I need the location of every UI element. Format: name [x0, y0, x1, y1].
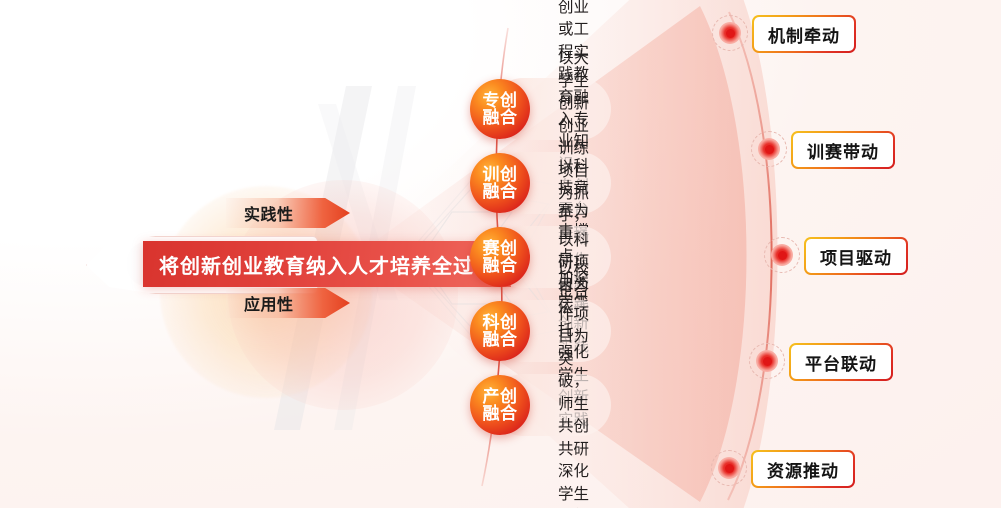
fusion-badge-line2: 融合 [483, 257, 518, 275]
arc-dot-marker-icon [712, 15, 748, 51]
arc-dot-marker-icon [749, 343, 785, 379]
fusion-badge-line2: 融合 [483, 331, 518, 349]
fusion-badge-line2: 融合 [483, 183, 518, 201]
fusion-row: 以科技竞赛为重点，加深 学生创新实践 赛创 融合 [470, 226, 530, 288]
fusion-badge-line1: 产创 [483, 388, 518, 406]
fusion-badge: 训创 融合 [470, 153, 530, 213]
fusion-row: 创新创业或工程实践教育融 入专业知识，专创平台支撑 专创 融合 [470, 78, 530, 140]
tag-applied: 应用性 [226, 288, 350, 318]
page-title: 将创新创业教育纳入人才培养全过程 [143, 241, 511, 287]
fusion-badge-line1: 训创 [483, 166, 518, 184]
outcome-label: 平台联动 [789, 343, 893, 381]
arc-dot-marker-icon [764, 237, 800, 273]
fusion-badge-line1: 专创 [483, 92, 518, 110]
fusion-badge-line2: 融合 [483, 109, 518, 127]
fusion-badge-line2: 融合 [483, 405, 518, 423]
outcome-label: 训赛带动 [791, 131, 895, 169]
fusion-badge: 产创 融合 [470, 375, 530, 435]
fusion-badge-line1: 赛创 [483, 240, 518, 258]
arc-dot-marker-icon [751, 131, 787, 167]
fusion-badge-line1: 科创 [483, 314, 518, 332]
fusion-badge: 科创 融合 [470, 301, 530, 361]
fusion-row: 以校企合作项目为突破，师生 共创共研深化学生创新实践 产创 融合 [470, 374, 530, 436]
fusion-badge: 专创 融合 [470, 79, 530, 139]
fusion-row: 以大学生创新创业训练项目 为抓手，带动学生创新实践 训创 融合 [470, 152, 530, 214]
outcome-label: 项目驱动 [804, 237, 908, 275]
diagram-canvas: 将创新创业教育纳入人才培养全过程 实践性 应用性 创新创业或工程实践教育融 入专… [0, 0, 1001, 508]
outcome-label: 资源推动 [751, 450, 855, 488]
outcome-label: 机制牵动 [752, 15, 856, 53]
fusion-badge: 赛创 融合 [470, 227, 530, 287]
arc-dot-marker-icon [711, 450, 747, 486]
fusion-row: 以科研项目为依托，强化 学生创新实践 科创 融合 [470, 300, 530, 362]
tag-practical: 实践性 [226, 198, 350, 228]
